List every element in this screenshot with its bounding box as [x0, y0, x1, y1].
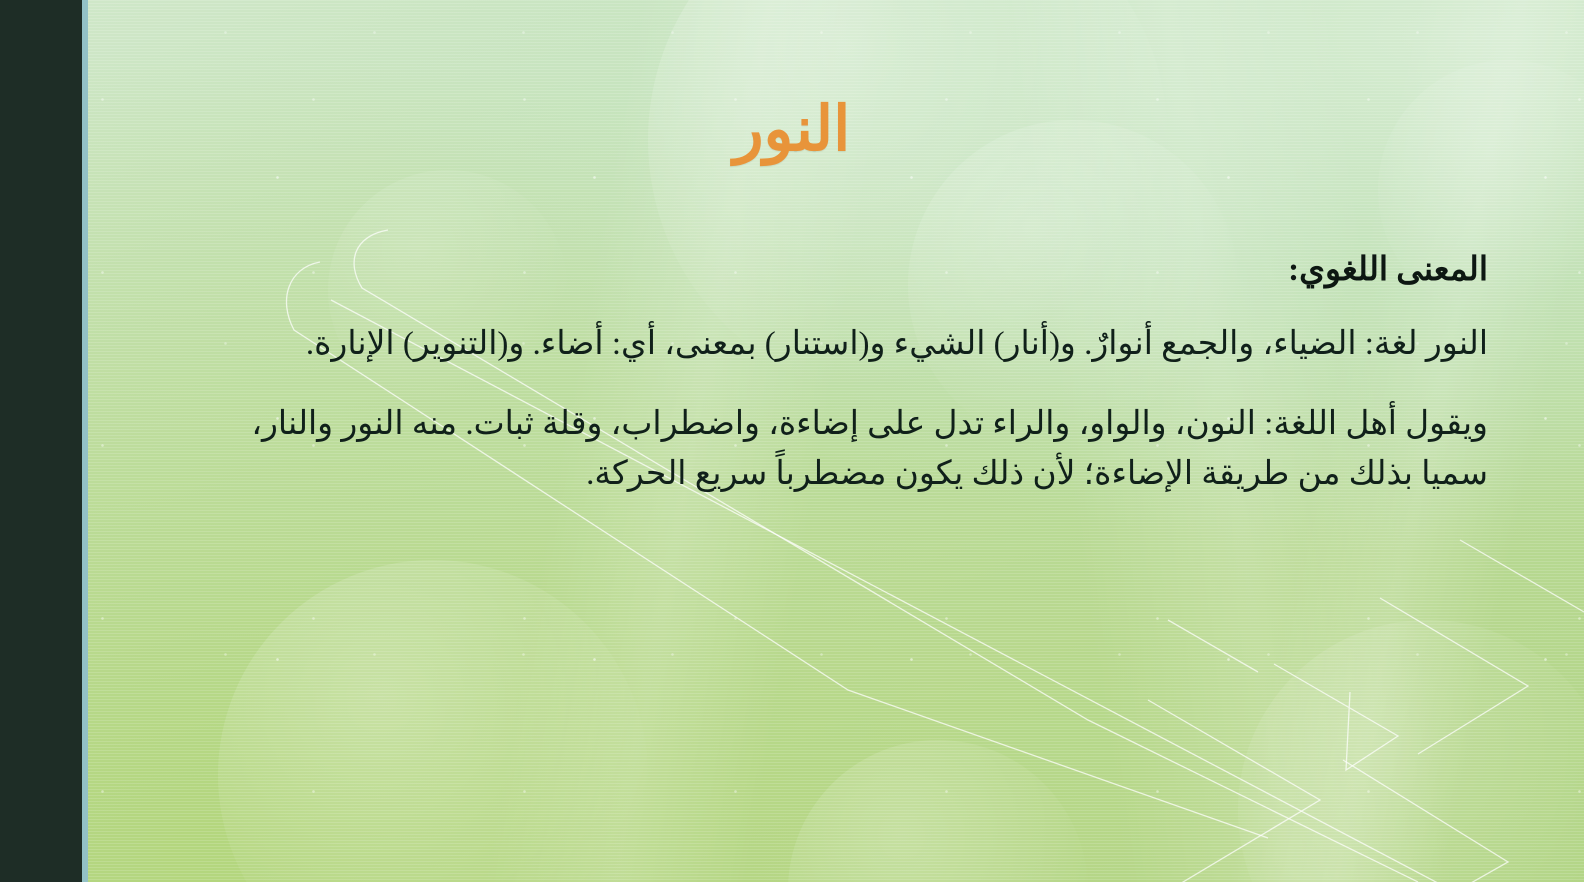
body-lead-heading: المعنى اللغوي: — [202, 248, 1488, 293]
presentation-slide: النور المعنى اللغوي: النور لغة: الضياء، … — [0, 0, 1584, 882]
slide-title: النور — [0, 96, 1584, 164]
slide-content: النور المعنى اللغوي: النور لغة: الضياء، … — [0, 0, 1584, 882]
slide-accent-stripe — [82, 0, 88, 882]
slide-sidebar-bar — [0, 0, 82, 882]
slide-body: المعنى اللغوي: النور لغة: الضياء، والجمع… — [202, 248, 1488, 499]
body-paragraph-2: ويقول أهل اللغة: النون، والواو، والراء ت… — [202, 399, 1488, 499]
body-paragraph-1: النور لغة: الضياء، والجمع أنوارٌ. و(أنار… — [202, 319, 1488, 369]
